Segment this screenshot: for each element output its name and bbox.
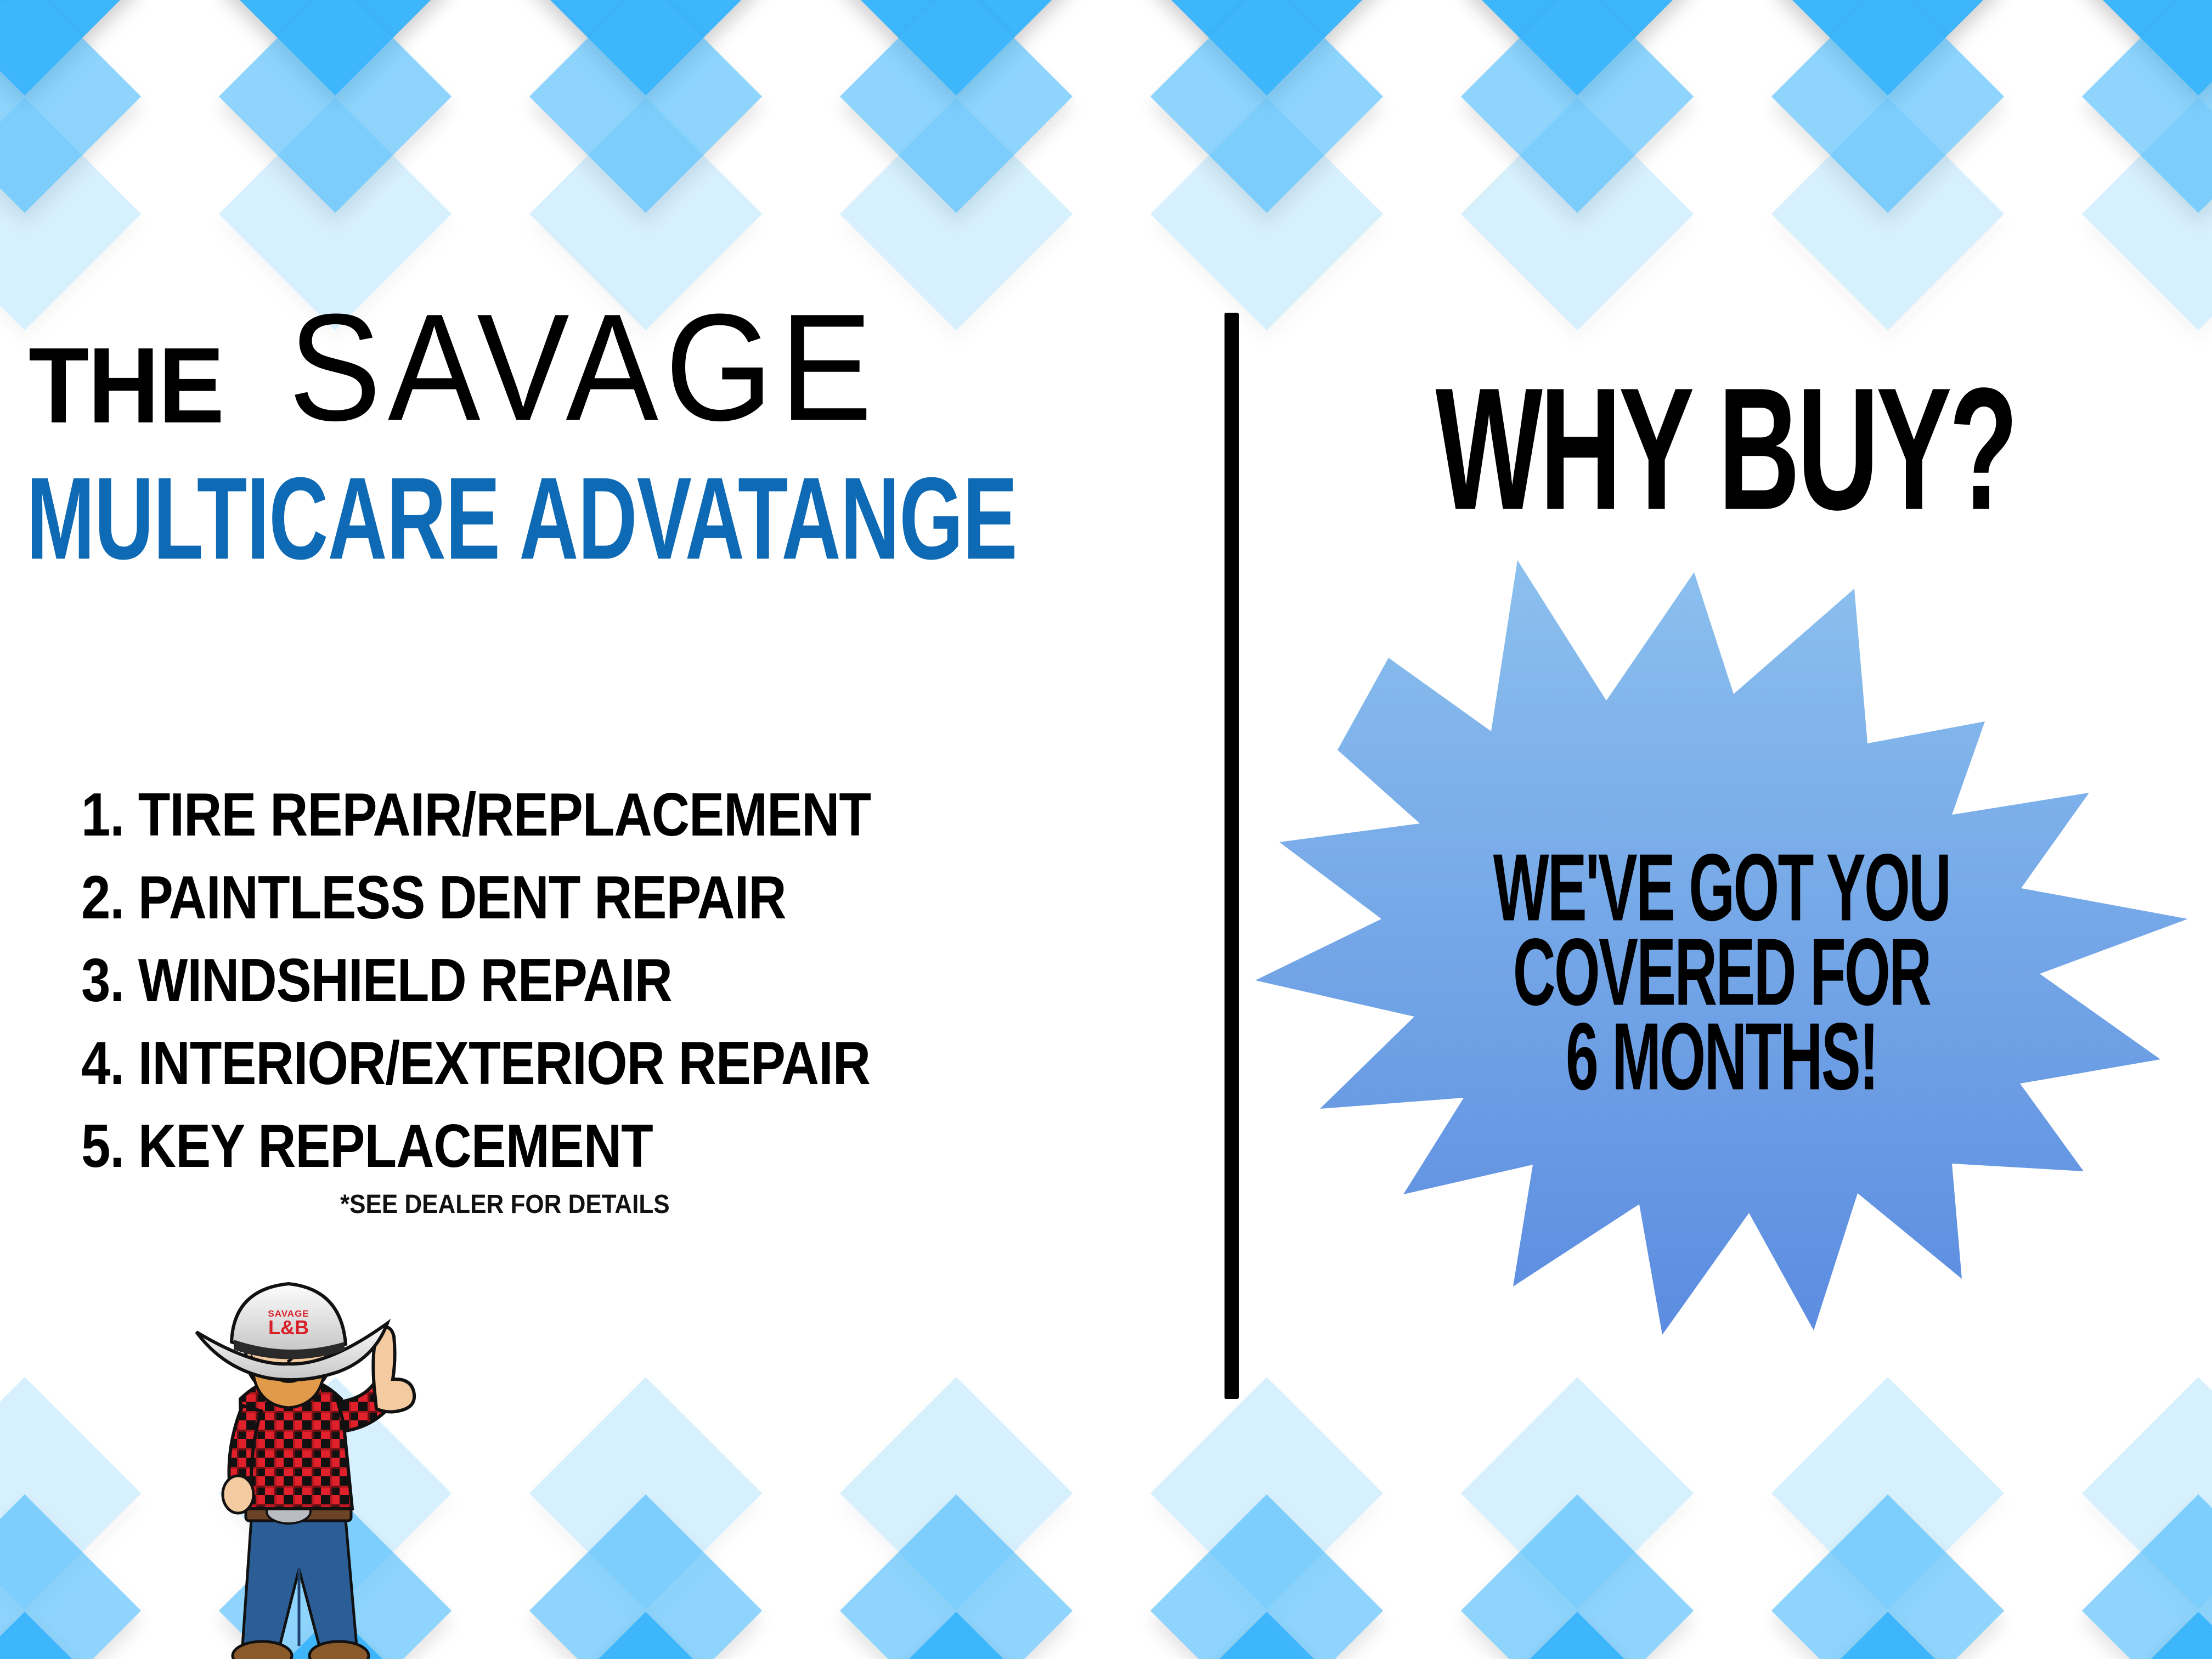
mascot-boot-right bbox=[309, 1641, 369, 1659]
mascot-boot-left bbox=[233, 1641, 292, 1659]
service-item-5: 5. KEY REPLACEMENT bbox=[81, 1116, 1178, 1177]
promo-poster: THE SAVAGE MULTICARE ADVATANGE 1. TIRE R… bbox=[0, 0, 2212, 1659]
vertical-divider bbox=[1224, 313, 1239, 1399]
mascot-hat-logo-main: L&B bbox=[268, 1316, 309, 1339]
service-item-2: 2. PAINTLESS DENT REPAIR bbox=[81, 867, 1178, 928]
right-panel: WHY BUY? WE'VE GOT YOU COVERED FOR 6 MON… bbox=[1239, 0, 2212, 1659]
starburst-line-3: 6 MONTHS! bbox=[1288, 1011, 2155, 1102]
brand-savage-word: SAVAGE bbox=[289, 291, 879, 443]
left-panel: THE SAVAGE MULTICARE ADVATANGE 1. TIRE R… bbox=[0, 0, 1224, 1659]
why-buy-headline: WHY BUY? bbox=[1288, 362, 2164, 536]
service-item-3: 3. WINDSHIELD REPAIR bbox=[81, 950, 1178, 1011]
service-item-4: 4. INTERIOR/EXTERIOR REPAIR bbox=[81, 1033, 1178, 1094]
disclaimer-text: *SEE DEALER FOR DETAILS bbox=[340, 1189, 670, 1220]
cowboy-mascot-icon: SAVAGE L&B bbox=[181, 1262, 422, 1659]
starburst-text: WE'VE GOT YOU COVERED FOR 6 MONTHS! bbox=[1255, 842, 2188, 1096]
brand-subtitle: MULTICARE ADVATANGE bbox=[26, 460, 1017, 577]
service-list: 1. TIRE REPAIR/REPLACEMENT 2. PAINTLESS … bbox=[81, 785, 1178, 1199]
service-item-1: 1. TIRE REPAIR/REPLACEMENT bbox=[81, 785, 1178, 845]
mascot-hand-left bbox=[223, 1476, 253, 1513]
starburst-badge: WE'VE GOT YOU COVERED FOR 6 MONTHS! bbox=[1255, 557, 2188, 1341]
cowboy-mascot: SAVAGE L&B bbox=[181, 1262, 422, 1659]
brand-headline: THE SAVAGE bbox=[29, 307, 867, 450]
brand-the-word: THE bbox=[29, 332, 223, 439]
